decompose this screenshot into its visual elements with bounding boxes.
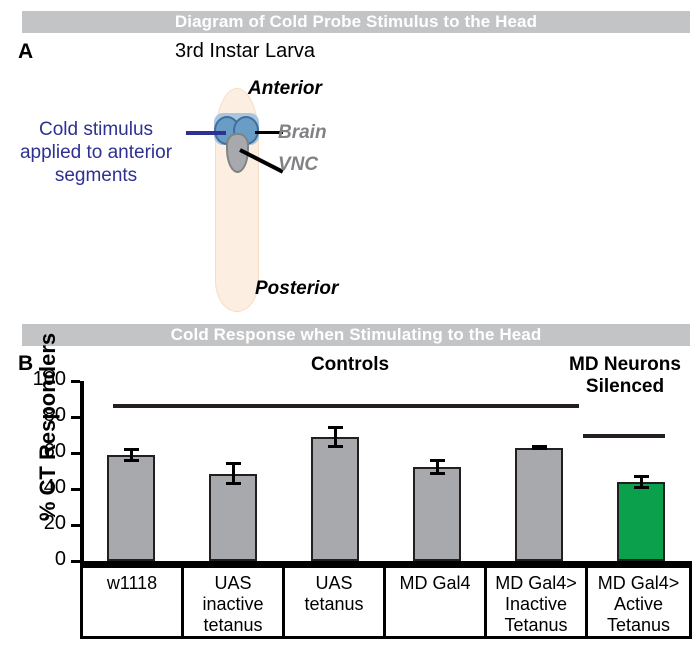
bar-chart: % CT Responders 020406080100 ControlsMD …	[0, 352, 700, 668]
error-bar-cap-bottom	[226, 482, 241, 485]
y-tick-mark	[71, 416, 80, 419]
group-label-2: MD Neurons Silenced	[540, 354, 700, 398]
anterior-label: Anterior	[248, 78, 322, 100]
error-bar-cap-top	[634, 475, 649, 478]
panel-b-banner-title: Cold Response when Stimulating to the He…	[22, 324, 690, 346]
x-axis-label-grid: w1118UASinactivetetanusUAStetanusMD Gal4…	[80, 565, 692, 639]
y-tick-mark	[71, 488, 80, 491]
bar-2	[209, 474, 257, 561]
x-label-text: MD Gal4>ActiveTetanus	[598, 573, 680, 636]
y-tick-mark	[71, 560, 80, 563]
y-tick-label: 100	[22, 368, 66, 391]
error-bar-1	[107, 448, 155, 462]
group-label-1: Controls	[260, 354, 440, 376]
bar-4	[413, 467, 461, 561]
y-tick-label: 0	[22, 548, 66, 571]
bar-5	[515, 448, 563, 561]
x-label-cell-3: UAStetanus	[285, 568, 386, 636]
error-bar-6	[617, 475, 665, 489]
x-label-text: UAStetanus	[304, 573, 363, 615]
figure-root: Diagram of Cold Probe Stimulus to the He…	[0, 0, 700, 668]
x-label-cell-5: MD Gal4>InactiveTetanus	[487, 568, 588, 636]
y-tick-label: 20	[22, 512, 66, 535]
y-tick-label: 40	[22, 476, 66, 499]
x-label-text: UASinactivetetanus	[202, 573, 263, 636]
y-tick-mark	[71, 452, 80, 455]
bar-3	[311, 437, 359, 561]
panel-a-letter: A	[18, 40, 33, 64]
vnc-label: VNC	[278, 154, 318, 176]
brain-label: Brain	[278, 122, 327, 144]
y-tick-mark	[71, 524, 80, 527]
error-bar-cap-bottom	[124, 459, 139, 462]
error-bar-cap-top	[328, 426, 343, 429]
y-axis-line	[80, 381, 84, 564]
error-bar-3	[311, 426, 359, 448]
bar-1	[107, 455, 155, 561]
error-bar-cap-top	[430, 459, 445, 462]
error-bar-cap-bottom	[532, 447, 547, 450]
posterior-label: Posterior	[255, 278, 338, 300]
error-bar-2	[209, 462, 257, 485]
larva-title: 3rd Instar Larva	[150, 40, 340, 63]
error-bar-cap-bottom	[634, 486, 649, 489]
y-tick-mark	[71, 380, 80, 383]
error-bar-cap-top	[124, 448, 139, 451]
group-bracket-line-1	[113, 404, 579, 408]
y-tick-label: 80	[22, 404, 66, 427]
x-label-cell-2: UASinactivetetanus	[184, 568, 285, 636]
cold-stimulus-annotation: Cold stimulus applied to anterior segmen…	[6, 118, 186, 187]
x-label-cell-1: w1118	[83, 568, 184, 636]
error-bar-5	[515, 445, 563, 450]
bar-6	[617, 482, 665, 561]
x-label-text: w1118	[107, 573, 157, 594]
error-bar-cap-bottom	[328, 445, 343, 448]
x-label-cell-4: MD Gal4	[386, 568, 487, 636]
error-bar-4	[413, 459, 461, 475]
x-label-text: MD Gal4	[399, 573, 470, 594]
y-tick-label: 60	[22, 440, 66, 463]
x-label-text: MD Gal4>InactiveTetanus	[495, 573, 577, 636]
cold-stimulus-leader-line	[186, 131, 226, 135]
group-bracket-line-2	[583, 434, 665, 438]
error-bar-cap-top	[226, 462, 241, 465]
panel-a-banner-title: Diagram of Cold Probe Stimulus to the He…	[22, 11, 690, 33]
x-label-cell-6: MD Gal4>ActiveTetanus	[588, 568, 689, 636]
error-bar-cap-bottom	[430, 472, 445, 475]
